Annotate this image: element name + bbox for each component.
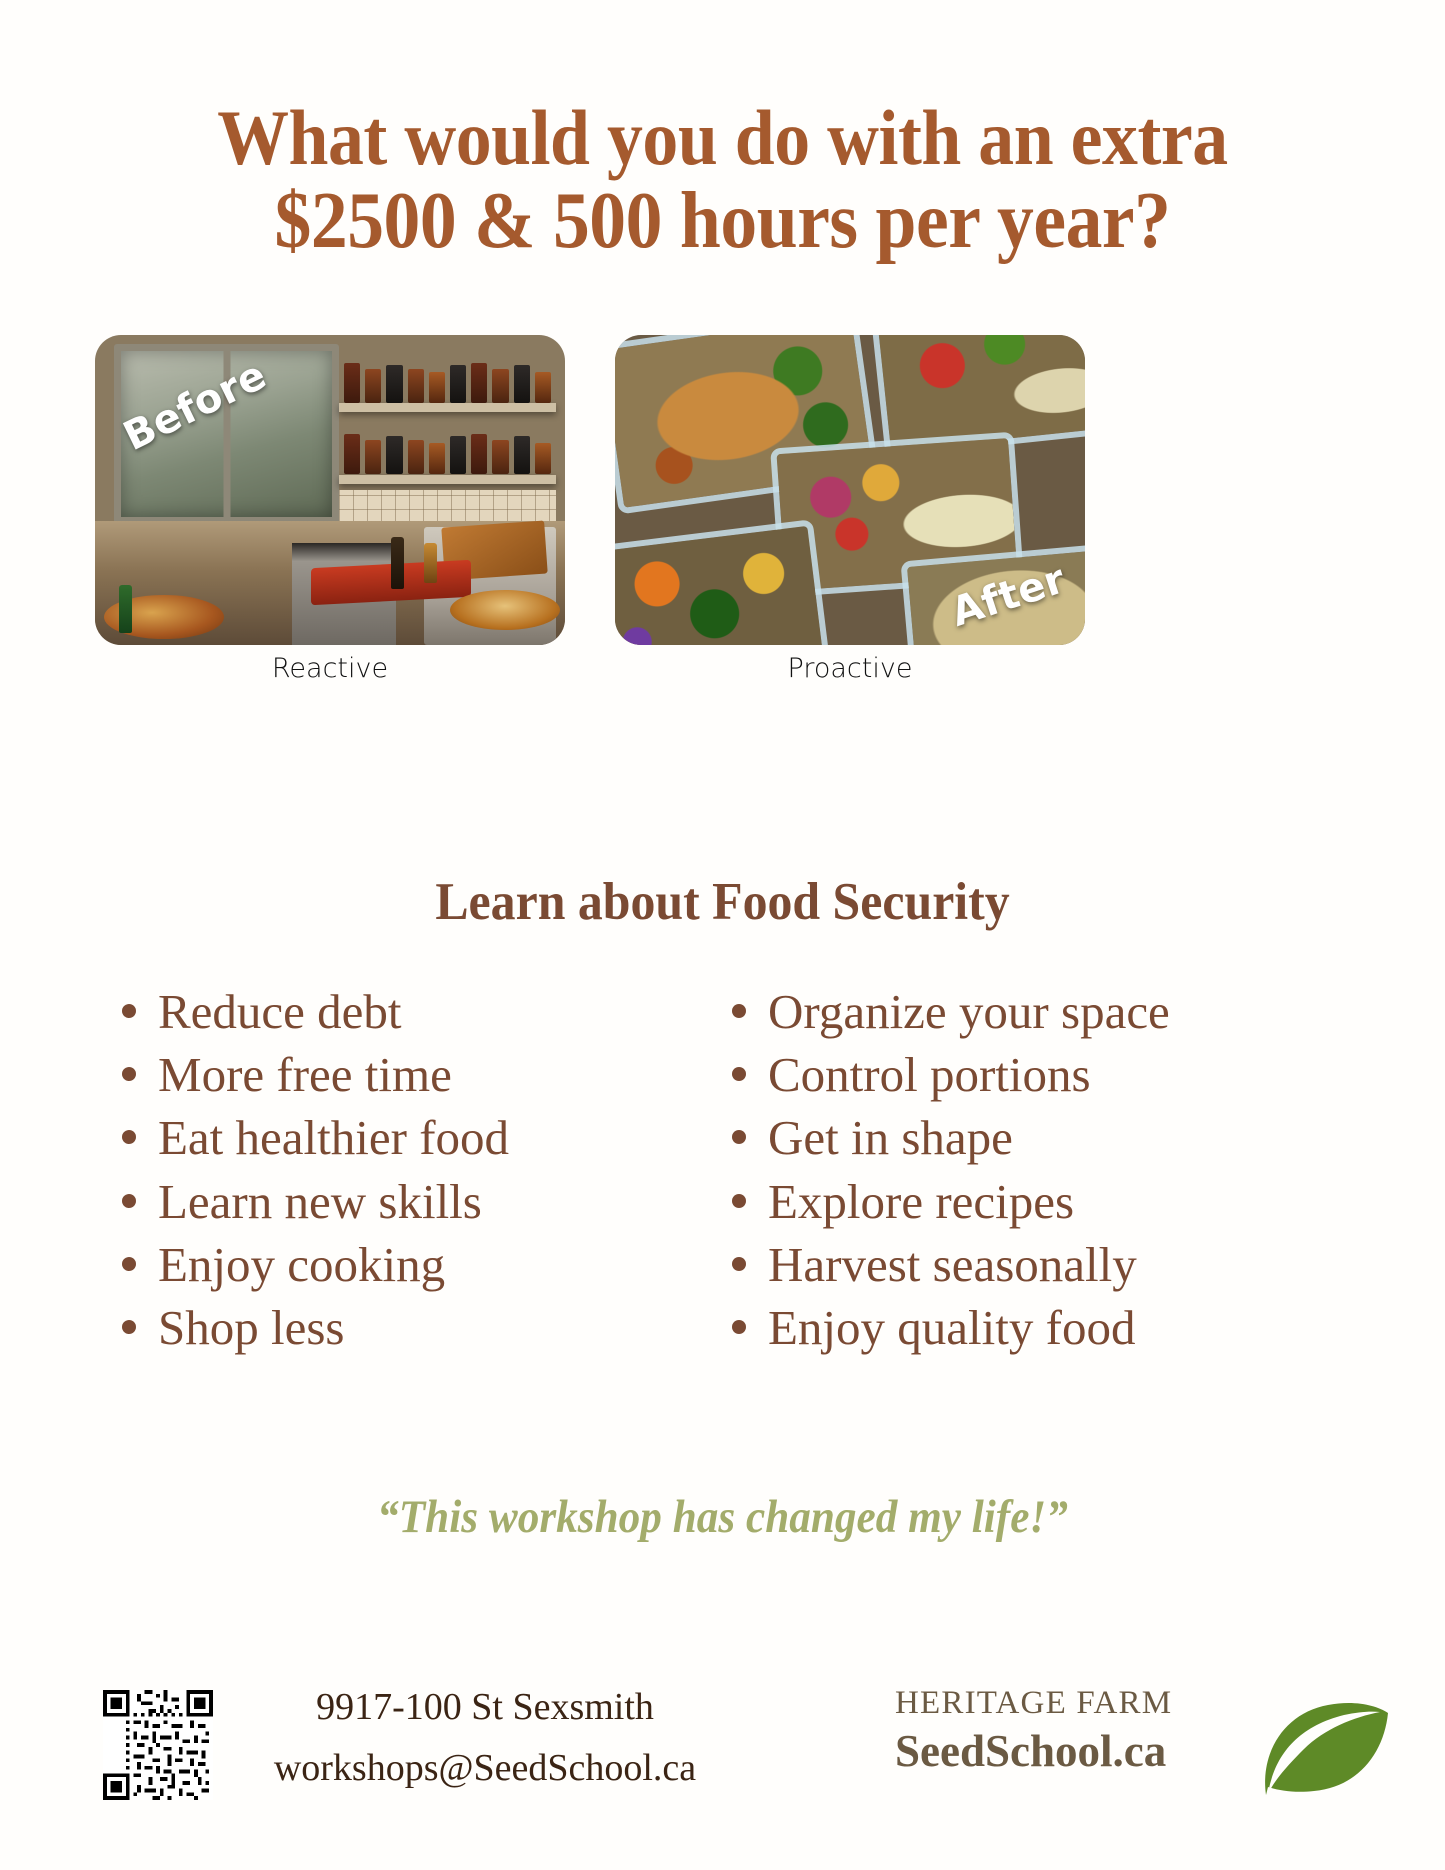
brand-lockup: HERITAGE FARM SeedSchool.ca [895,1683,1172,1778]
bullet-icon [732,1067,746,1081]
list-item-label: Enjoy cooking [158,1233,445,1296]
flyer-page: What would you do with an extra $2500 & … [0,0,1445,1870]
list-item: Learn new skills [110,1170,650,1233]
list-item: Harvest seasonally [720,1233,1260,1296]
after-caption: Proactive [615,653,1085,684]
list-item: Eat healthier food [110,1106,650,1169]
bullet-icon [732,1194,746,1208]
testimonial-quote: “This workshop has changed my life!” [58,1490,1387,1544]
bullet-icon [732,1130,746,1144]
list-item: Reduce debt [110,980,650,1043]
bullet-icon [732,1004,746,1018]
list-item: More free time [110,1043,650,1106]
bullet-icon [122,1320,136,1334]
list-item-label: Harvest seasonally [768,1233,1137,1296]
list-item: Organize your space [720,980,1260,1043]
list-item-label: Explore recipes [768,1170,1074,1233]
list-item: Explore recipes [720,1170,1260,1233]
brand-top-label: HERITAGE FARM [895,1683,1172,1724]
list-item: Control portions [720,1043,1260,1106]
list-item-label: Enjoy quality food [768,1296,1135,1359]
email-line[interactable]: workshops@SeedSchool.ca [250,1738,720,1799]
after-block: After Proactive [615,335,1085,645]
bullet-icon [732,1320,746,1334]
benefits-right-column: Organize your space Control portions Get… [720,980,1260,1359]
footer: 9917-100 St Sexsmith workshops@SeedSchoo… [0,1645,1445,1835]
headline-line-2: $2500 & 500 hours per year? [58,179,1387,265]
contact-info: 9917-100 St Sexsmith workshops@SeedSchoo… [250,1677,720,1799]
list-item: Enjoy quality food [720,1296,1260,1359]
before-after-comparison: Before Reactive After Proactive [95,335,1350,645]
before-caption: Reactive [95,653,565,684]
list-item-label: Organize your space [768,980,1170,1043]
list-item-label: Reduce debt [158,980,402,1043]
address-line: 9917-100 St Sexsmith [250,1677,720,1738]
benefits-list: Reduce debt More free time Eat healthier… [110,980,1340,1359]
list-item-label: Control portions [768,1043,1091,1106]
list-item: Shop less [110,1296,650,1359]
list-item-label: Shop less [158,1296,345,1359]
qr-code-icon[interactable] [103,1690,213,1800]
section-heading: Learn about Food Security [43,872,1401,932]
bullet-icon [122,1067,136,1081]
before-photo: Before [95,335,565,645]
messy-kitchen-image [95,335,565,645]
brand-main-label: SeedSchool.ca [895,1724,1172,1778]
list-item: Get in shape [720,1106,1260,1169]
bullet-icon [122,1130,136,1144]
leaf-icon [1258,1695,1393,1800]
bullet-icon [122,1194,136,1208]
benefits-left-column: Reduce debt More free time Eat healthier… [110,980,650,1359]
page-title: What would you do with an extra $2500 & … [58,96,1387,265]
after-photo: After [615,335,1085,645]
bullet-icon [122,1004,136,1018]
list-item-label: Eat healthier food [158,1106,509,1169]
bullet-icon [732,1257,746,1271]
list-item-label: More free time [158,1043,452,1106]
list-item-label: Learn new skills [158,1170,482,1233]
list-item-label: Get in shape [768,1106,1013,1169]
before-block: Before Reactive [95,335,565,645]
headline-line-1: What would you do with an extra [58,96,1387,179]
list-item: Enjoy cooking [110,1233,650,1296]
bullet-icon [122,1257,136,1271]
